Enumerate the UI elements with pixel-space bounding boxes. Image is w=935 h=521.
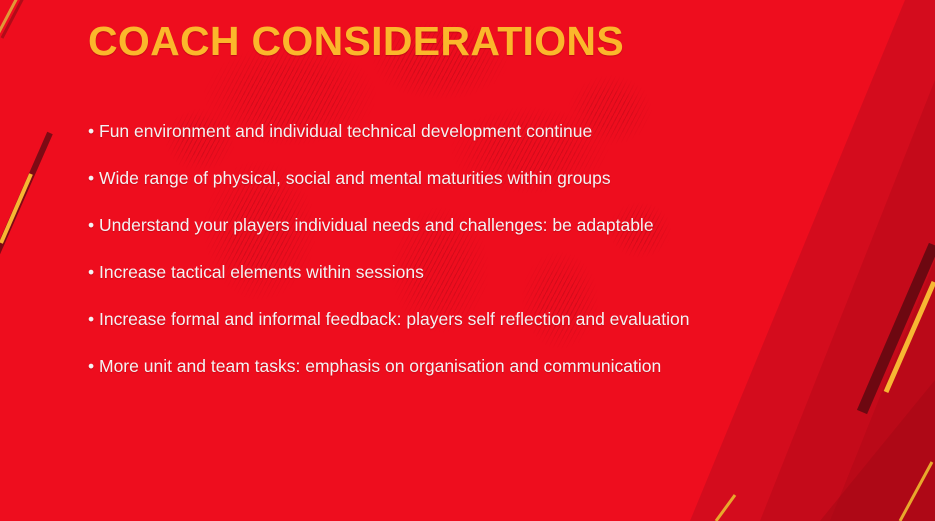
list-item: •Increase tactical elements within sessi… (88, 260, 848, 307)
list-item: •Understand your players individual need… (88, 213, 848, 260)
list-item: •Fun environment and individual technica… (88, 119, 848, 166)
list-item-label: Increase tactical elements within sessio… (99, 262, 424, 282)
bullet-marker-icon: • (88, 166, 99, 190)
slide-canvas: COACH CONSIDERATIONS •Fun environment an… (0, 0, 935, 521)
bullet-marker-icon: • (88, 119, 99, 143)
bullet-marker-icon: • (88, 260, 99, 284)
slide-content: COACH CONSIDERATIONS •Fun environment an… (0, 0, 935, 521)
list-item-label: Wide range of physical, social and menta… (99, 168, 611, 188)
considerations-list: •Fun environment and individual technica… (88, 119, 848, 401)
list-item-label: Fun environment and individual technical… (99, 121, 592, 141)
bullet-marker-icon: • (88, 307, 99, 331)
list-item-label: Increase formal and informal feedback: p… (99, 309, 689, 329)
list-item-label: Understand your players individual needs… (99, 215, 654, 235)
bullet-marker-icon: • (88, 213, 99, 237)
list-item-label: More unit and team tasks: emphasis on or… (99, 356, 661, 376)
list-item: •Increase formal and informal feedback: … (88, 307, 848, 354)
bullet-marker-icon: • (88, 354, 99, 378)
list-item: •More unit and team tasks: emphasis on o… (88, 354, 848, 401)
page-title: COACH CONSIDERATIONS (88, 18, 624, 65)
list-item: •Wide range of physical, social and ment… (88, 166, 848, 213)
